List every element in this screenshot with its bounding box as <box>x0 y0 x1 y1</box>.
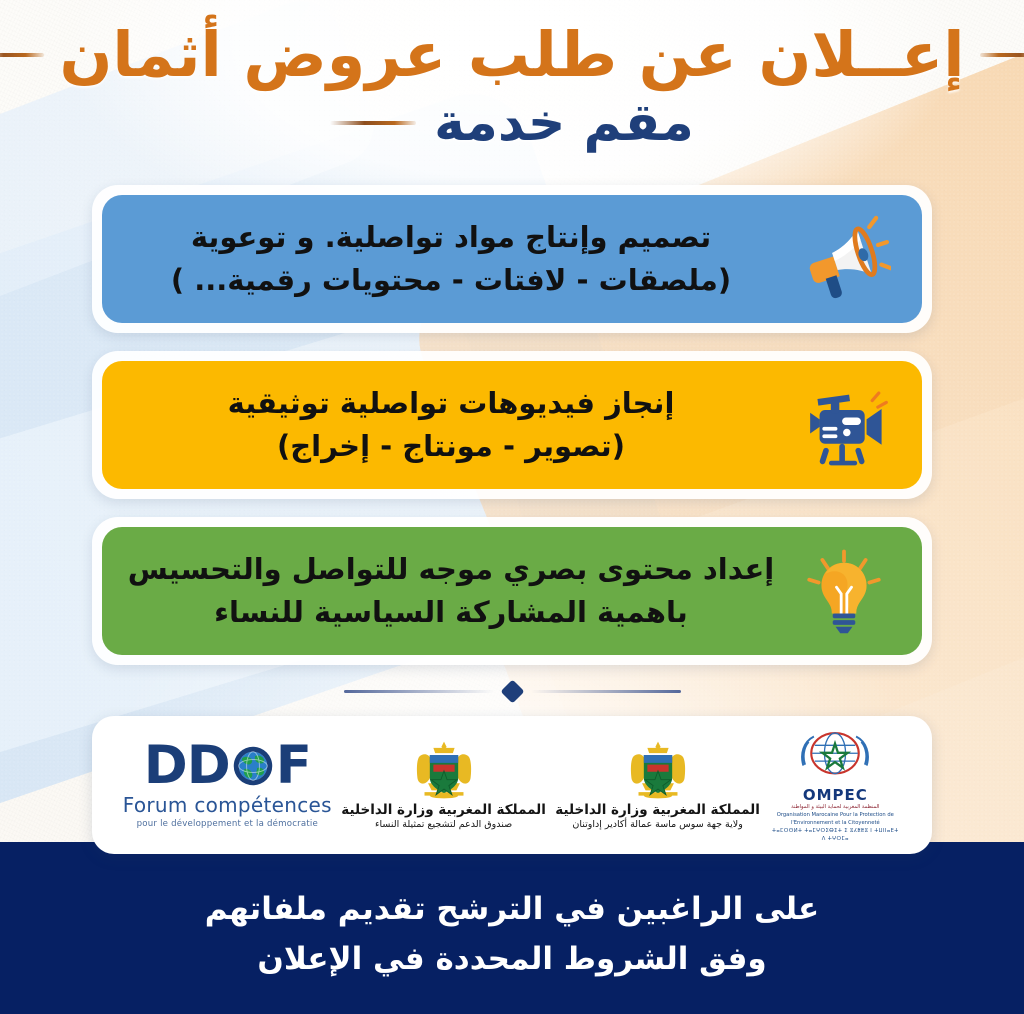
morocco-coat-of-arms-icon <box>622 739 694 801</box>
fcdd-letters-dd: DD <box>144 741 230 791</box>
service-cards-list: تصميم وإنتاج مواد تواصلية. و توعوية (ملص… <box>0 185 1024 665</box>
title-dash-left-icon <box>0 53 44 57</box>
footer-line-1: على الراغبين في الترشح تقديم ملفاتهم <box>205 884 819 934</box>
logo-fcdd: F <box>123 741 332 829</box>
footer-banner: على الراغبين في الترشح تقديم ملفاتهم وفق… <box>0 842 1024 1014</box>
page-title: إعــلان عن طلب عروض أثمان <box>60 22 965 89</box>
logos-section: OMPEC المنظمة المغربية لحماية البيئة و ا… <box>0 716 1024 854</box>
divider-line-right <box>344 690 494 693</box>
logo-ompec: OMPEC المنظمة المغربية لحماية البيئة و ا… <box>769 726 901 843</box>
poster-header: إعــلان عن طلب عروض أثمان مقم خدمة <box>0 0 1024 153</box>
subtitle-dash-icon <box>330 121 416 125</box>
title-dash-right-icon <box>980 53 1024 57</box>
ompec-emblem-icon <box>791 726 879 784</box>
card-line-1: إعداد محتوى بصري موجه للتواصل والتحسيس <box>128 552 775 586</box>
logo-ompec-name: OMPEC <box>803 786 868 804</box>
fcdd-letter-f: F <box>276 741 311 791</box>
fcdd-wordmark: F <box>144 741 311 791</box>
card-frame: إنجاز فيديوهات تواصلية توثيقية (تصوير - … <box>92 351 932 499</box>
logo-ministry-interior-souss: المملكة المغربية وزارة الداخلية ولاية جه… <box>555 739 760 830</box>
title-row: إعــلان عن طلب عروض أثمان <box>0 22 1024 89</box>
card-frame: تصميم وإنتاج مواد تواصلية. و توعوية (ملص… <box>92 185 932 333</box>
page-subtitle: مقم خدمة <box>434 93 694 153</box>
ministry-line-2: ولاية جهة سوس ماسة عمالة أكادير إداوتنان <box>555 819 760 830</box>
card-line-2: (تصوير - مونتاج - إخراج) <box>116 425 786 468</box>
lightbulb-icon <box>792 539 896 643</box>
ministry-text: المملكة المغربية وزارة الداخلية ولاية جه… <box>555 802 760 830</box>
service-card-text: إنجاز فيديوهات تواصلية توثيقية (تصوير - … <box>116 382 786 468</box>
footer-line-2: وفق الشروط المحددة في الإعلان <box>257 934 766 984</box>
diamond-icon <box>500 679 524 703</box>
card-line-2: باهمية المشاركة السياسية للنساء <box>116 591 786 634</box>
fcdd-subtitle-2: pour le développement et la démocratie <box>137 819 318 829</box>
ministry-line-2: صندوق الدعم لتشجيع تمثيلة النساء <box>341 819 546 830</box>
card-line-2: (ملصقات - لافتات - محتويات رقمية... ) <box>116 259 786 302</box>
poster-root: إعــلان عن طلب عروض أثمان مقم خدمة <box>0 0 1024 1014</box>
card-line-1: إنجاز فيديوهات تواصلية توثيقية <box>228 386 675 420</box>
ministry-text: المملكة المغربية وزارة الداخلية صندوق ال… <box>341 802 546 830</box>
divider-line-left <box>531 690 681 693</box>
logo-ministry-interior-fund: المملكة المغربية وزارة الداخلية صندوق ال… <box>341 739 546 830</box>
service-card-text: تصميم وإنتاج مواد تواصلية. و توعوية (ملص… <box>116 216 786 302</box>
section-divider <box>292 683 732 700</box>
service-card-communication-materials[interactable]: تصميم وإنتاج مواد تواصلية. و توعوية (ملص… <box>102 195 922 323</box>
service-card-video-production[interactable]: إنجاز فيديوهات تواصلية توثيقية (تصوير - … <box>102 361 922 489</box>
service-card-text: إعداد محتوى بصري موجه للتواصل والتحسيس ب… <box>116 548 786 634</box>
card-line-1: تصميم وإنتاج مواد تواصلية. و توعوية <box>191 220 711 254</box>
logos-card: OMPEC المنظمة المغربية لحماية البيئة و ا… <box>92 716 932 854</box>
logo-ompec-sub-ar: المنظمة المغربية لحماية البيئة و المواطن… <box>791 804 879 812</box>
megaphone-icon <box>792 207 896 311</box>
subtitle-row: مقم خدمة <box>0 93 1024 153</box>
card-frame: إعداد محتوى بصري موجه للتواصل والتحسيس ب… <box>92 517 932 665</box>
service-card-visual-content[interactable]: إعداد محتوى بصري موجه للتواصل والتحسيس ب… <box>102 527 922 655</box>
ministry-line-1: المملكة المغربية وزارة الداخلية <box>555 802 760 818</box>
fcdd-subtitle-1: Forum compétences <box>123 793 332 817</box>
ministry-line-1: المملكة المغربية وزارة الداخلية <box>341 802 546 818</box>
morocco-coat-of-arms-icon <box>408 739 480 801</box>
logo-ompec-sub-fr: Organisation Marocaine Pour la Protectio… <box>769 812 901 828</box>
globe-icon <box>231 744 275 788</box>
logo-ompec-sub-tifinagh: ⵜⴰⵎⵔⵙⵍⵜ ⵜⴰⵎⵖⵔⵉⴱⵉⵜ ⵉ ⵓⵃⵟⵟⵓ ⵏ ⵜⵡⵏⵏⴰⴹⵜ ⴷ ⵜⵖ… <box>769 828 901 844</box>
video-camera-icon <box>792 373 896 477</box>
